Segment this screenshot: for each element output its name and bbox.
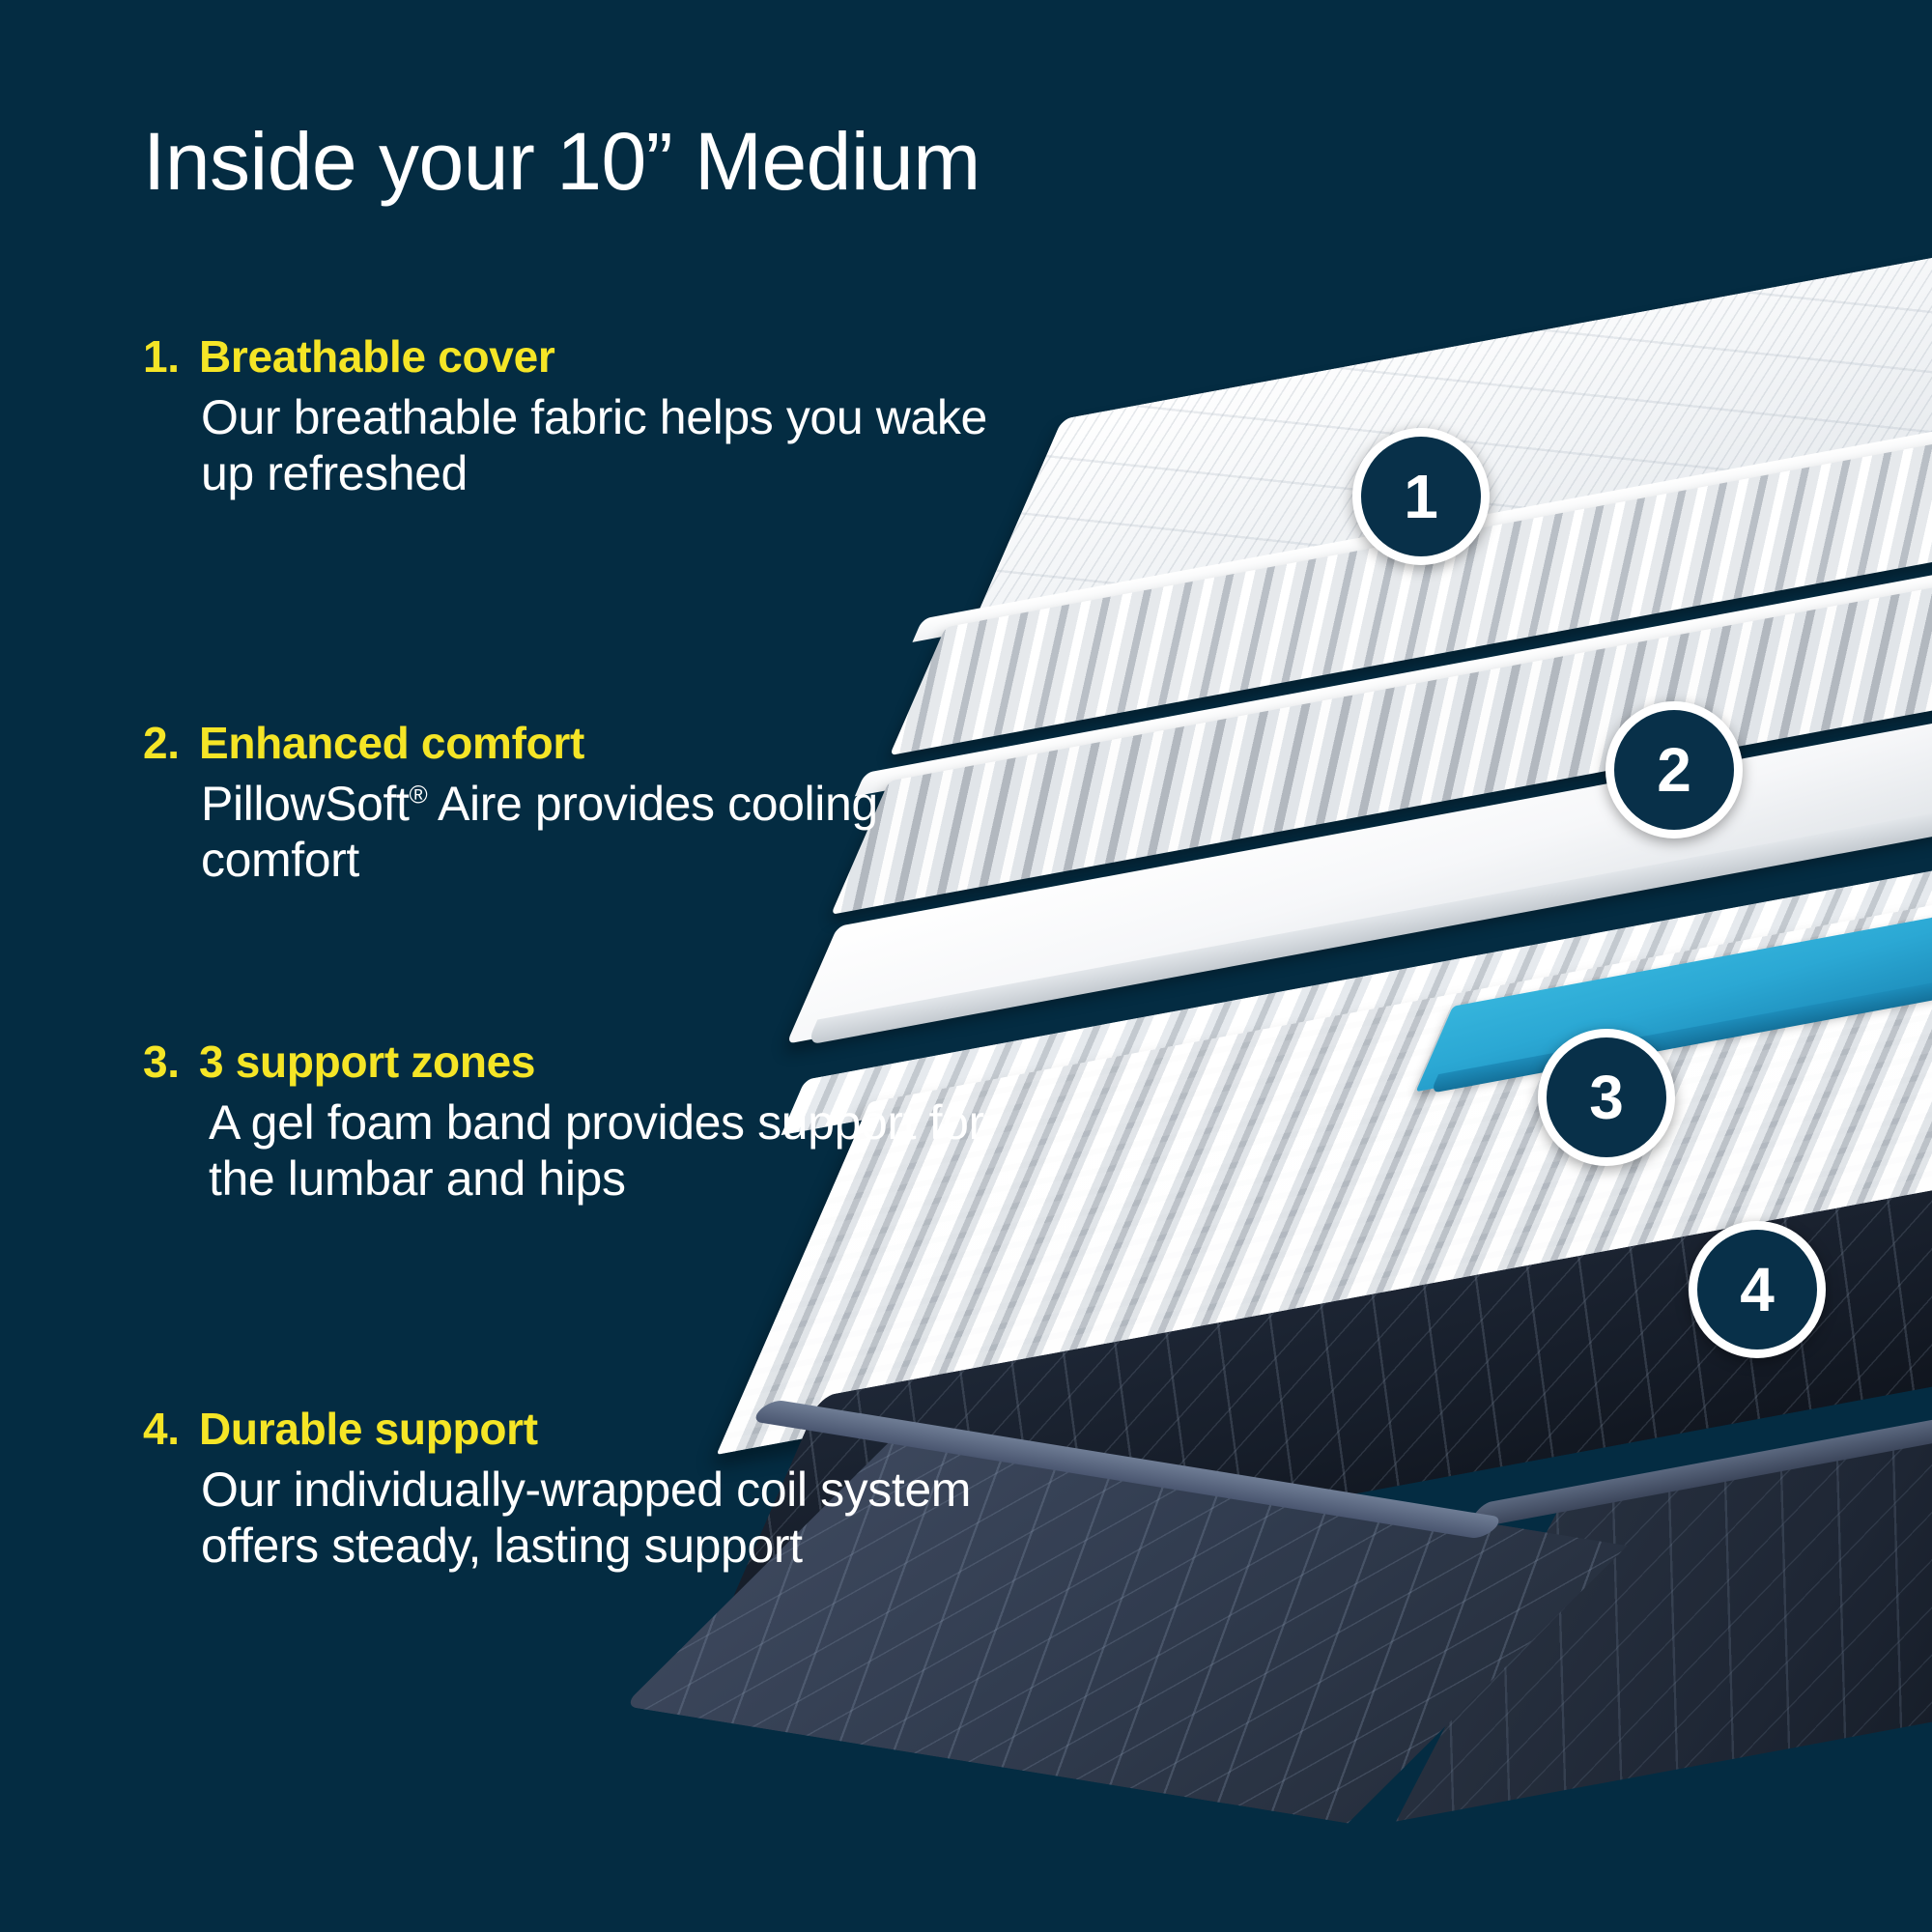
feature-2-heading: 2. Enhanced comfort <box>143 720 993 766</box>
infographic-canvas: 1 2 3 4 Inside your 10” Medium 1. Breath… <box>0 0 1932 1932</box>
feature-2-body: PillowSoft® Aire provides cooling comfor… <box>143 776 993 888</box>
page-title: Inside your 10” Medium <box>143 121 980 202</box>
feature-4-number: 4. <box>143 1406 199 1452</box>
callout-badge-2[interactable]: 2 <box>1605 701 1743 838</box>
feature-item-4: 4. Durable support Our individually-wrap… <box>143 1406 993 1574</box>
feature-item-1: 1. Breathable cover Our breathable fabri… <box>143 333 993 501</box>
feature-1-heading-label: Breathable cover <box>199 333 554 380</box>
feature-4-heading: 4. Durable support <box>143 1406 993 1452</box>
feature-text-column: Inside your 10” Medium 1. Breathable cov… <box>0 0 1024 1932</box>
feature-2-number: 2. <box>143 720 199 766</box>
callout-badge-3[interactable]: 3 <box>1538 1029 1675 1166</box>
feature-4-heading-label: Durable support <box>199 1406 538 1452</box>
feature-1-number: 1. <box>143 333 199 380</box>
callout-badge-4[interactable]: 4 <box>1689 1221 1826 1358</box>
feature-3-body: A gel foam band provides support for the… <box>143 1094 993 1207</box>
callout-badge-4-label: 4 <box>1740 1254 1775 1325</box>
feature-4-body: Our individually-wrapped coil system off… <box>143 1462 993 1574</box>
feature-1-heading: 1. Breathable cover <box>143 333 993 380</box>
feature-3-number: 3. <box>143 1038 199 1085</box>
feature-item-3: 3. 3 support zones A gel foam band provi… <box>143 1038 993 1207</box>
callout-badge-1[interactable]: 1 <box>1352 428 1490 565</box>
callout-badge-1-label: 1 <box>1404 461 1438 532</box>
registered-trademark-icon: ® <box>410 781 428 810</box>
feature-3-heading-label: 3 support zones <box>199 1038 535 1085</box>
feature-1-body: Our breathable fabric helps you wake up … <box>143 389 993 501</box>
feature-item-2: 2. Enhanced comfort PillowSoft® Aire pro… <box>143 720 993 888</box>
feature-2-heading-label: Enhanced comfort <box>199 720 584 766</box>
feature-2-body-brand: PillowSoft <box>201 777 410 831</box>
callout-badge-2-label: 2 <box>1657 734 1691 806</box>
callout-badge-3-label: 3 <box>1589 1062 1624 1133</box>
feature-3-heading: 3. 3 support zones <box>143 1038 993 1085</box>
